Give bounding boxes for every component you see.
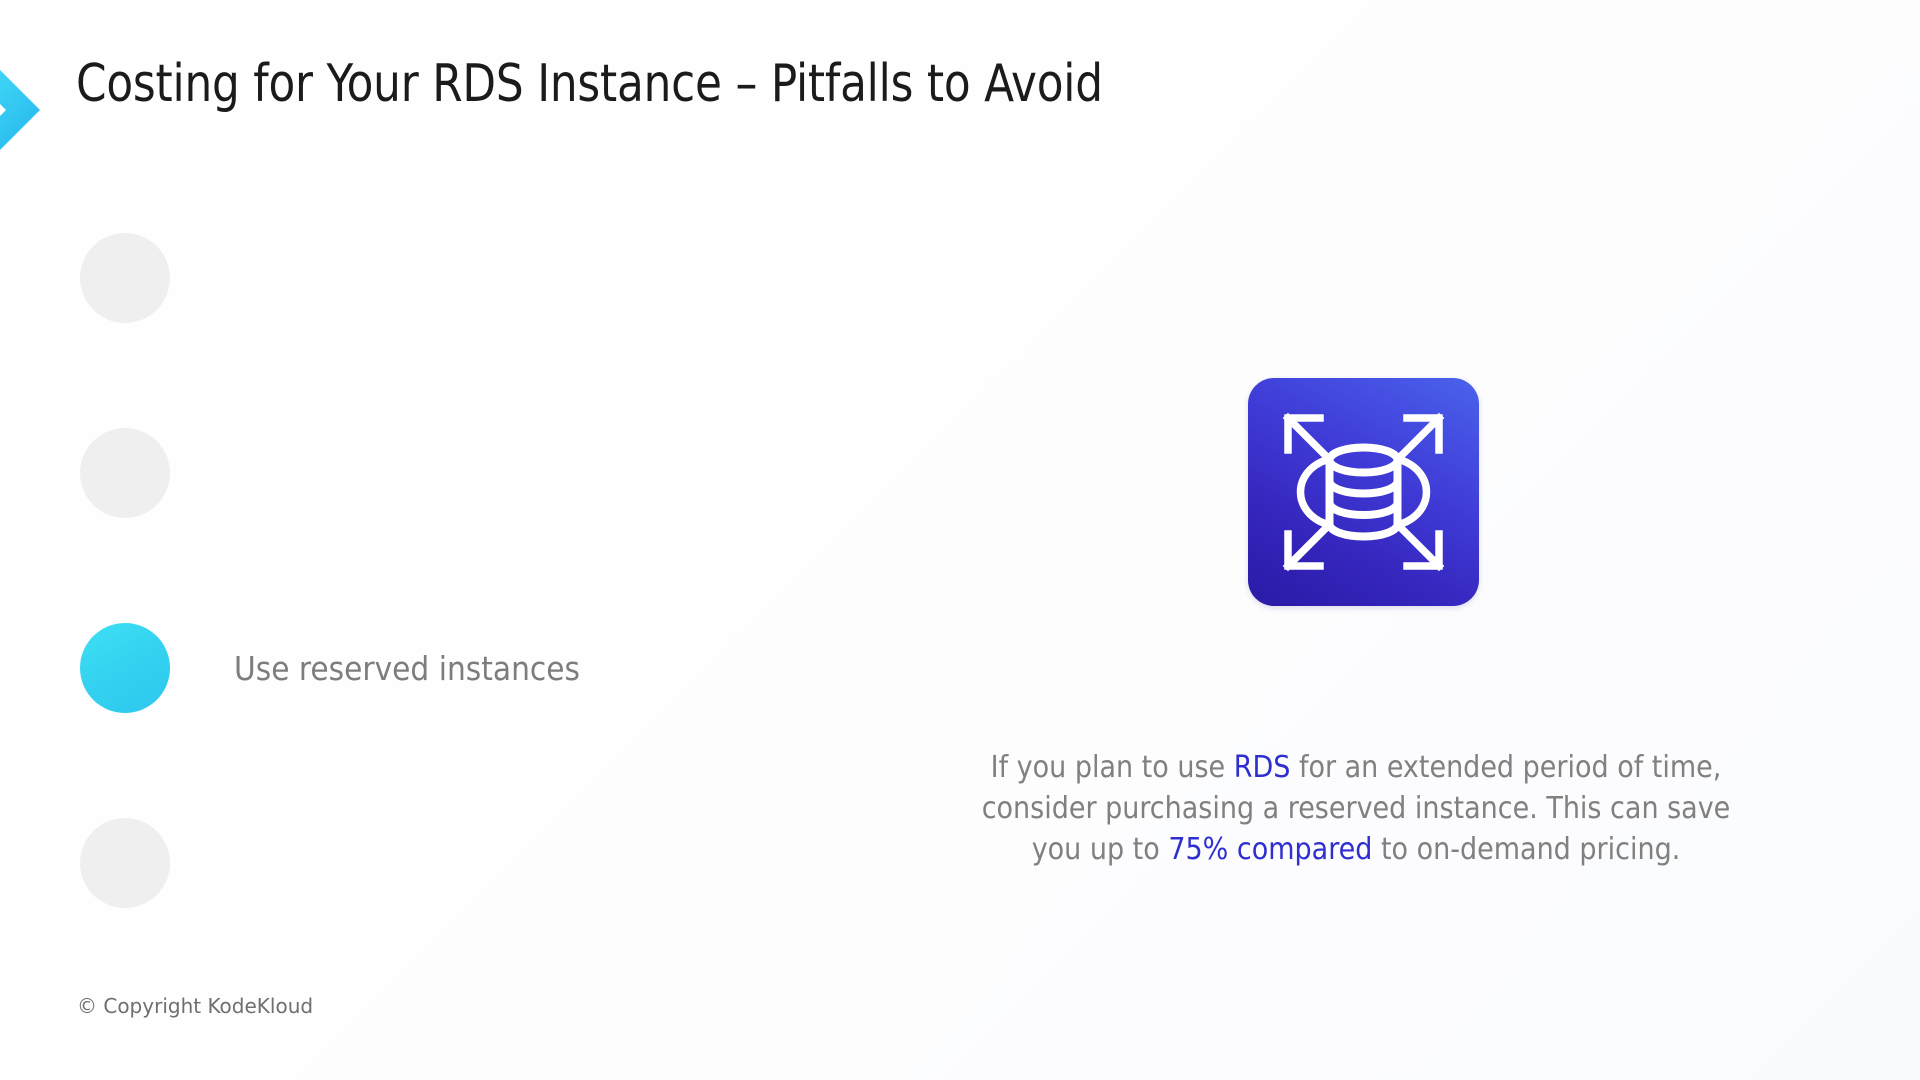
- bullet-list: Use reserved instances: [0, 0, 900, 1080]
- bullet-dot-active-icon: [80, 623, 170, 713]
- description-paragraph: If you plan to use RDS for an extended p…: [980, 748, 1732, 870]
- rds-database-scale-icon: [1248, 378, 1479, 606]
- bullet-label: Use reserved instances: [234, 649, 580, 688]
- bullet-item-2[interactable]: [80, 428, 234, 518]
- bullet-dot-icon: [80, 818, 170, 908]
- bullet-item-4[interactable]: [80, 818, 234, 908]
- paragraph-highlight-savings: 75% compared: [1168, 832, 1372, 867]
- paragraph-segment: to on-demand pricing.: [1372, 832, 1680, 867]
- copyright-text: © Copyright KodeKloud: [77, 994, 313, 1018]
- bullet-item-1[interactable]: [80, 233, 234, 323]
- paragraph-highlight-rds: RDS: [1234, 750, 1291, 785]
- paragraph-segment: If you plan to use: [991, 750, 1234, 785]
- bullet-dot-icon: [80, 428, 170, 518]
- bullet-item-use-reserved-instances[interactable]: Use reserved instances: [80, 623, 580, 713]
- bullet-dot-icon: [80, 233, 170, 323]
